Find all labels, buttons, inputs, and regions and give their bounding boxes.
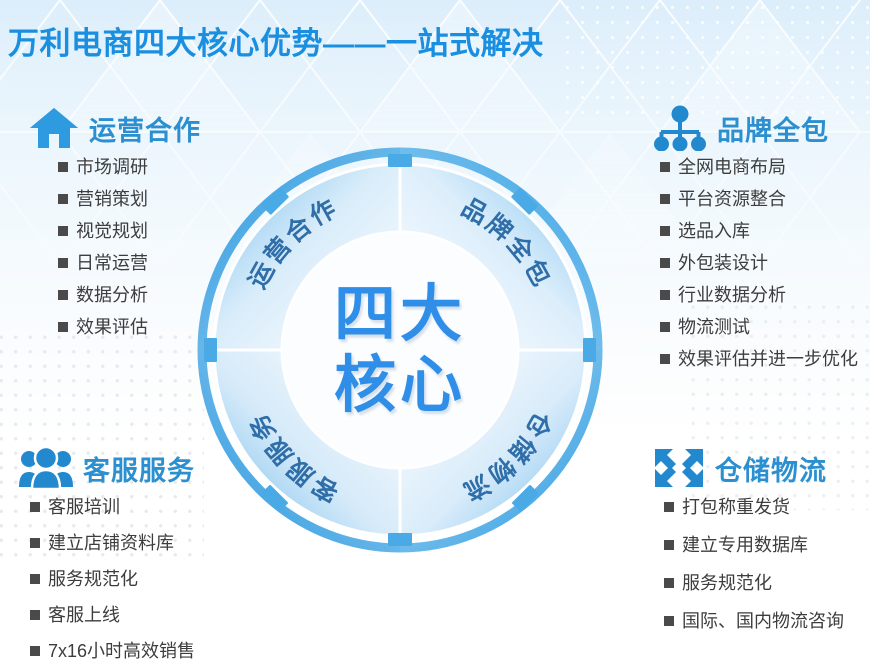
- list-item-label: 7x16小时高效销售: [48, 642, 195, 660]
- list-item-label: 打包称重发货: [682, 498, 790, 516]
- section-header: 客服服务: [18, 444, 278, 492]
- list-item-label: 建立店铺资料库: [48, 534, 174, 552]
- list-item-label: 客服上线: [48, 606, 120, 624]
- list-item-label: 效果评估并进一步优化: [678, 350, 858, 368]
- bullet-square-icon: [660, 258, 670, 268]
- list-item: 日常运营: [58, 254, 278, 272]
- bullet-square-icon: [58, 194, 68, 204]
- bullet-square-icon: [660, 194, 670, 204]
- list-item-label: 日常运营: [76, 254, 148, 272]
- bullet-square-icon: [664, 540, 674, 550]
- list-item-label: 营销策划: [76, 190, 148, 208]
- list-item-label: 平台资源整合: [678, 190, 786, 208]
- bullet-square-icon: [660, 226, 670, 236]
- list-item-label: 全网电商布局: [678, 158, 786, 176]
- org-chart-icon: [652, 105, 708, 151]
- list-item: 物流测试: [660, 318, 870, 336]
- list-item-label: 服务规范化: [48, 570, 138, 588]
- bullet-square-icon: [664, 578, 674, 588]
- list-item: 数据分析: [58, 286, 278, 304]
- list-item-label: 选品入库: [678, 222, 750, 240]
- list-item: 服务规范化: [30, 570, 278, 588]
- list-item: 服务规范化: [664, 574, 870, 592]
- background-dots-top: [560, 0, 870, 120]
- bullet-square-icon: [660, 290, 670, 300]
- bullet-square-icon: [58, 162, 68, 172]
- bullet-square-icon: [30, 574, 40, 584]
- section-heading: 品牌全包: [717, 109, 829, 148]
- bullet-square-icon: [664, 616, 674, 626]
- list-item-label: 效果评估: [76, 318, 148, 336]
- people-group-icon: [18, 446, 74, 490]
- list-item: 平台资源整合: [660, 190, 870, 208]
- list-item: 建立店铺资料库: [30, 534, 278, 552]
- list-item: 建立专用数据库: [664, 536, 870, 554]
- infographic-canvas: 万利电商四大核心优势——一站式解决: [0, 0, 870, 672]
- list-item: 打包称重发货: [664, 498, 870, 516]
- list-item: 客服培训: [30, 498, 278, 516]
- section-warehouse-logistics: 仓储物流 打包称重发货 建立专用数据库 服务规范化 国际、国内物流咨询: [652, 444, 870, 650]
- list-item: 国际、国内物流咨询: [664, 612, 870, 630]
- bullet-square-icon: [660, 354, 670, 364]
- list-item: 7x16小时高效销售: [30, 642, 278, 660]
- list-item-label: 服务规范化: [682, 574, 772, 592]
- feature-list: 打包称重发货 建立专用数据库 服务规范化 国际、国内物流咨询: [652, 498, 870, 630]
- section-header: 运营合作: [28, 104, 278, 152]
- section-header: 品牌全包: [652, 104, 870, 152]
- page-title: 万利电商四大核心优势——一站式解决: [8, 18, 544, 63]
- list-item-label: 物流测试: [678, 318, 750, 336]
- list-item: 选品入库: [660, 222, 870, 240]
- section-heading: 运营合作: [89, 109, 201, 148]
- list-item-label: 外包装设计: [678, 254, 768, 272]
- bullet-square-icon: [660, 322, 670, 332]
- list-item: 效果评估并进一步优化: [660, 350, 870, 368]
- section-heading: 客服服务: [83, 449, 195, 488]
- section-header: 仓储物流: [652, 444, 870, 492]
- list-item-label: 客服培训: [48, 498, 120, 516]
- section-heading: 仓储物流: [715, 449, 827, 488]
- list-item-label: 建立专用数据库: [682, 536, 808, 554]
- bullet-square-icon: [58, 322, 68, 332]
- four-arrows-icon: [652, 446, 706, 490]
- bullet-square-icon: [664, 502, 674, 512]
- list-item: 市场调研: [58, 158, 278, 176]
- bullet-square-icon: [30, 502, 40, 512]
- section-operations-cooperation: 运营合作 市场调研 营销策划 视觉规划 日常运营 数据分析 效果评估: [28, 104, 278, 350]
- bullet-square-icon: [30, 610, 40, 620]
- section-customer-service: 客服服务 客服培训 建立店铺资料库 服务规范化 客服上线 7x16小时高效销售: [18, 444, 278, 672]
- section-brand-full-package: 品牌全包 全网电商布局 平台资源整合 选品入库 外包装设计 行业数据分析 物流测…: [652, 104, 870, 382]
- bullet-square-icon: [58, 226, 68, 236]
- bullet-square-icon: [30, 538, 40, 548]
- list-item: 效果评估: [58, 318, 278, 336]
- bullet-square-icon: [660, 162, 670, 172]
- feature-list: 市场调研 营销策划 视觉规划 日常运营 数据分析 效果评估: [28, 158, 278, 336]
- list-item-label: 国际、国内物流咨询: [682, 612, 844, 630]
- list-item: 外包装设计: [660, 254, 870, 272]
- list-item: 全网电商布局: [660, 158, 870, 176]
- list-item-label: 行业数据分析: [678, 286, 786, 304]
- bullet-square-icon: [30, 646, 40, 656]
- list-item-label: 视觉规划: [76, 222, 148, 240]
- home-icon: [28, 106, 80, 150]
- list-item: 视觉规划: [58, 222, 278, 240]
- bullet-square-icon: [58, 258, 68, 268]
- list-item: 行业数据分析: [660, 286, 870, 304]
- bullet-square-icon: [58, 290, 68, 300]
- feature-list: 客服培训 建立店铺资料库 服务规范化 客服上线 7x16小时高效销售: [18, 498, 278, 660]
- list-item: 营销策划: [58, 190, 278, 208]
- list-item-label: 市场调研: [76, 158, 148, 176]
- list-item: 客服上线: [30, 606, 278, 624]
- list-item-label: 数据分析: [76, 286, 148, 304]
- feature-list: 全网电商布局 平台资源整合 选品入库 外包装设计 行业数据分析 物流测试 效果评…: [652, 158, 870, 368]
